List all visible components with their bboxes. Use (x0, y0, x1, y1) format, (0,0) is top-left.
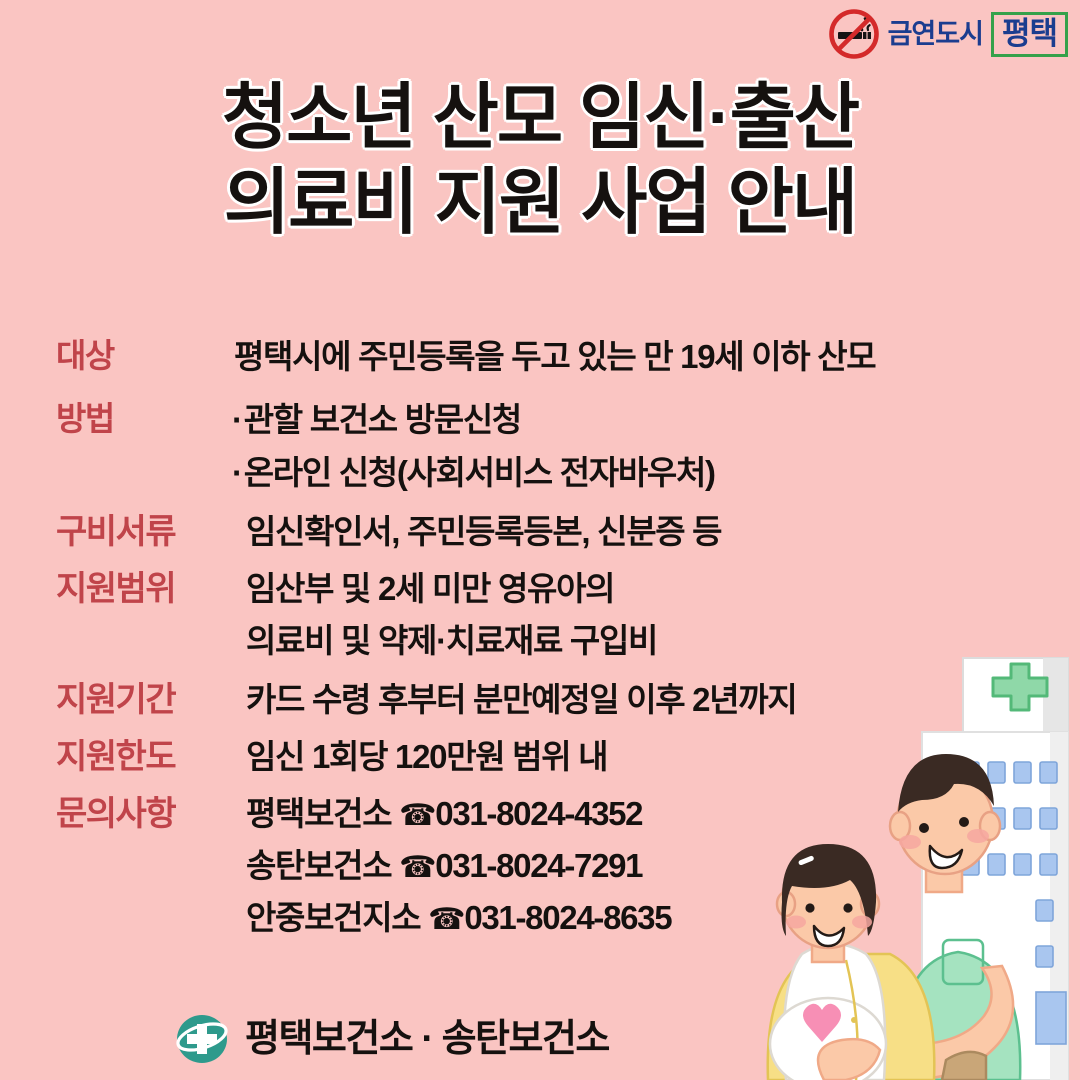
table-row: 지원범위 임산부 및 2세 미만 영유아의 의료비 및 약제·치료재료 구입비 (56, 568, 1056, 664)
bullet-item: ·관할 보건소 방문신청 (232, 399, 1056, 442)
table-row: 지원한도 임신 1회당 120만원 범위 내 (56, 736, 1056, 779)
title-line-1: 청소년 산모 임신·출산 (0, 76, 1080, 161)
contact-item: 송탄보건소 ☎031-8024-7291 (246, 845, 1056, 888)
title-line-2: 의료비 지원 사업 안내 (0, 161, 1080, 246)
bullet-dot-icon: · (232, 401, 242, 438)
footer-organizations: 평택보건소 · 송탄보건소 (245, 1020, 609, 1058)
poster-canvas: 금연도시 평택 청소년 산모 임신·출산 의료비 지원 사업 안내 (0, 0, 1080, 1080)
value-line: 의료비 및 약제·치료재료 구입비 (246, 620, 1056, 663)
no-smoking-icon (828, 8, 880, 60)
city-logo: 금연도시 평택 (828, 8, 1068, 60)
bullet-dot-icon: · (232, 454, 242, 491)
row-value-daesang: 평택시에 주민등록을 두고 있는 만 19세 이하 산모 (216, 336, 1056, 379)
contact-phone[interactable]: 031-8024-4352 (435, 795, 642, 832)
telephone-icon: ☎ (428, 902, 464, 937)
table-row: 지원기간 카드 수령 후부터 분만예정일 이후 2년까지 (56, 679, 1056, 722)
telephone-icon: ☎ (399, 850, 435, 885)
table-row: 구비서류 임신확인서, 주민등록등본, 신분증 등 (56, 511, 1056, 554)
row-value-jiwonhando: 임신 1회당 120만원 범위 내 (246, 736, 1056, 779)
bullet-text: 관할 보건소 방문신청 (244, 401, 521, 438)
contact-office: 평택보건소 (246, 795, 391, 832)
page-title: 청소년 산모 임신·출산 의료비 지원 사업 안내 (0, 76, 1080, 246)
footer: 평택보건소 · 송탄보건소 (175, 1012, 609, 1066)
row-label-gubiseoryu: 구비서류 (56, 511, 246, 553)
row-label-munuisahang: 문의사항 (56, 793, 246, 835)
contact-item: 평택보건소 ☎031-8024-4352 (246, 793, 1056, 836)
row-label-bangbeop: 방법 (56, 399, 216, 440)
smoke-free-label: 금연도시 (888, 21, 983, 48)
row-value-jiwongigan: 카드 수령 후부터 분만예정일 이후 2년까지 (246, 679, 1056, 722)
health-center-logo-icon (175, 1012, 229, 1066)
value-line: 임산부 및 2세 미만 영유아의 (246, 568, 1056, 611)
row-value-munuisahang: 평택보건소 ☎031-8024-4352 송탄보건소 ☎031-8024-729… (246, 793, 1056, 940)
table-row: 대상 평택시에 주민등록을 두고 있는 만 19세 이하 산모 (56, 336, 1056, 379)
contact-phone[interactable]: 031-8024-7291 (435, 847, 642, 884)
row-value-bangbeop: ·관할 보건소 방문신청 ·온라인 신청(사회서비스 전자바우처) (216, 399, 1056, 495)
contact-phone[interactable]: 031-8024-8635 (464, 899, 671, 936)
row-label-jiwonbeomwi: 지원범위 (56, 568, 246, 610)
contact-office: 안중보건지소 (246, 899, 420, 936)
row-label-jiwonhando: 지원한도 (56, 736, 246, 778)
city-name-badge: 평택 (991, 12, 1068, 57)
contact-item: 안중보건지소 ☎031-8024-8635 (246, 897, 1056, 940)
bullet-text: 온라인 신청(사회서비스 전자바우처) (244, 454, 715, 491)
contact-office: 송탄보건소 (246, 847, 391, 884)
telephone-icon: ☎ (399, 798, 435, 833)
row-value-gubiseoryu: 임신확인서, 주민등록등본, 신분증 등 (246, 511, 1056, 554)
row-label-daesang: 대상 (56, 336, 216, 377)
table-row: 방법 ·관할 보건소 방문신청 ·온라인 신청(사회서비스 전자바우처) (56, 399, 1056, 495)
bullet-item: ·온라인 신청(사회서비스 전자바우처) (232, 452, 1056, 495)
info-table: 대상 평택시에 주민등록을 두고 있는 만 19세 이하 산모 방법 ·관할 보… (56, 336, 1056, 951)
table-row: 문의사항 평택보건소 ☎031-8024-4352 송탄보건소 ☎031-802… (56, 793, 1056, 940)
row-label-jiwongigan: 지원기간 (56, 679, 246, 721)
row-value-jiwonbeomwi: 임산부 및 2세 미만 영유아의 의료비 및 약제·치료재료 구입비 (246, 568, 1056, 664)
